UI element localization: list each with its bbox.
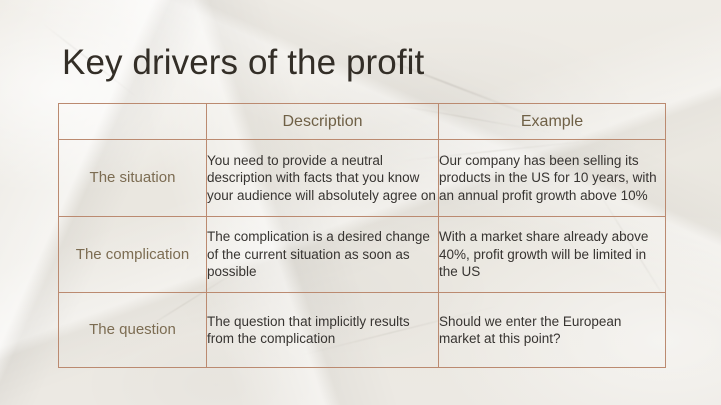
- row-label-complication: The complication: [59, 217, 207, 293]
- page-title: Key drivers of the profit: [62, 42, 424, 84]
- row-description-situation: You need to provide a neutral descriptio…: [207, 140, 439, 217]
- key-drivers-table-wrapper: Description Example The situation You ne…: [58, 103, 665, 363]
- slide-canvas: Key drivers of the profit Description Ex…: [0, 0, 721, 405]
- row-label-question: The question: [59, 293, 207, 368]
- table-header-row: Description Example: [59, 104, 666, 140]
- row-description-complication: The complication is a desired change of …: [207, 217, 439, 293]
- row-example-question: Should we enter the European market at t…: [439, 293, 666, 368]
- row-example-complication: With a market share already above 40%, p…: [439, 217, 666, 293]
- table-header-example: Example: [439, 104, 666, 140]
- row-description-question: The question that implicitly results fro…: [207, 293, 439, 368]
- table-header-corner: [59, 104, 207, 140]
- row-example-situation: Our company has been selling its product…: [439, 140, 666, 217]
- table-header-description: Description: [207, 104, 439, 140]
- key-drivers-table: Description Example The situation You ne…: [58, 103, 666, 368]
- table-row: The question The question that implicitl…: [59, 293, 666, 368]
- row-label-situation: The situation: [59, 140, 207, 217]
- table-row: The complication The complication is a d…: [59, 217, 666, 293]
- table-row: The situation You need to provide a neut…: [59, 140, 666, 217]
